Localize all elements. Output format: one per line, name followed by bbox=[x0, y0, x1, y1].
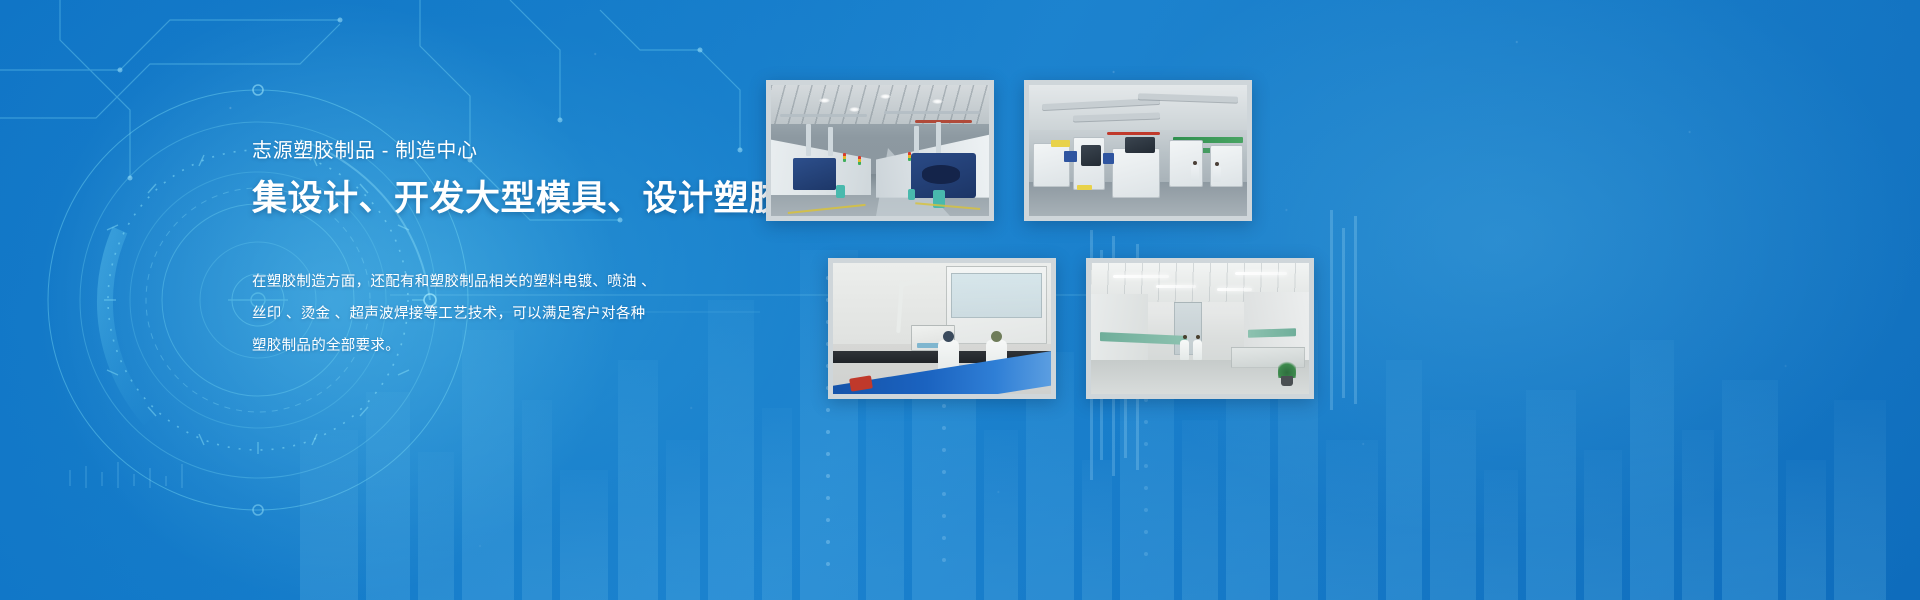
photo-injection-molding-workshop[interactable] bbox=[766, 80, 994, 221]
photo-automated-assembly-line[interactable] bbox=[1024, 80, 1252, 221]
photo-image bbox=[1029, 85, 1247, 216]
hero-eyebrow: 志源塑胶制品 - 制造中心 bbox=[252, 138, 722, 164]
radar-sweep bbox=[105, 230, 150, 420]
hero-banner: 志源塑胶制品 - 制造中心 集设计、开发大型模具、设计塑胶制品 在塑胶制造方面，… bbox=[0, 0, 1920, 600]
hero-headline: 集设计、开发大型模具、设计塑胶制品 bbox=[252, 178, 722, 220]
hero-copy: 志源塑胶制品 - 制造中心 集设计、开发大型模具、设计塑胶制品 在塑胶制造方面，… bbox=[252, 138, 722, 362]
photo-image bbox=[1091, 263, 1309, 394]
photo-image bbox=[771, 85, 989, 216]
photo-image bbox=[833, 263, 1051, 394]
description-line-3: 塑胶制品的全部要求。 bbox=[252, 330, 722, 362]
hud-tick-marks bbox=[70, 462, 182, 488]
photo-clean-room-corridor[interactable] bbox=[1086, 258, 1314, 399]
description-line-1: 在塑胶制造方面，还配有和塑胶制品相关的塑料电镀、喷油 、 bbox=[252, 266, 722, 298]
photo-quality-inspection-lab[interactable] bbox=[828, 258, 1056, 399]
description-line-2: 丝印 、烫金 、超声波焊接等工艺技术，可以满足客户对各种 bbox=[252, 298, 722, 330]
hero-description: 在塑胶制造方面，还配有和塑胶制品相关的塑料电镀、喷油 、 丝印 、烫金 、超声波… bbox=[252, 266, 722, 362]
